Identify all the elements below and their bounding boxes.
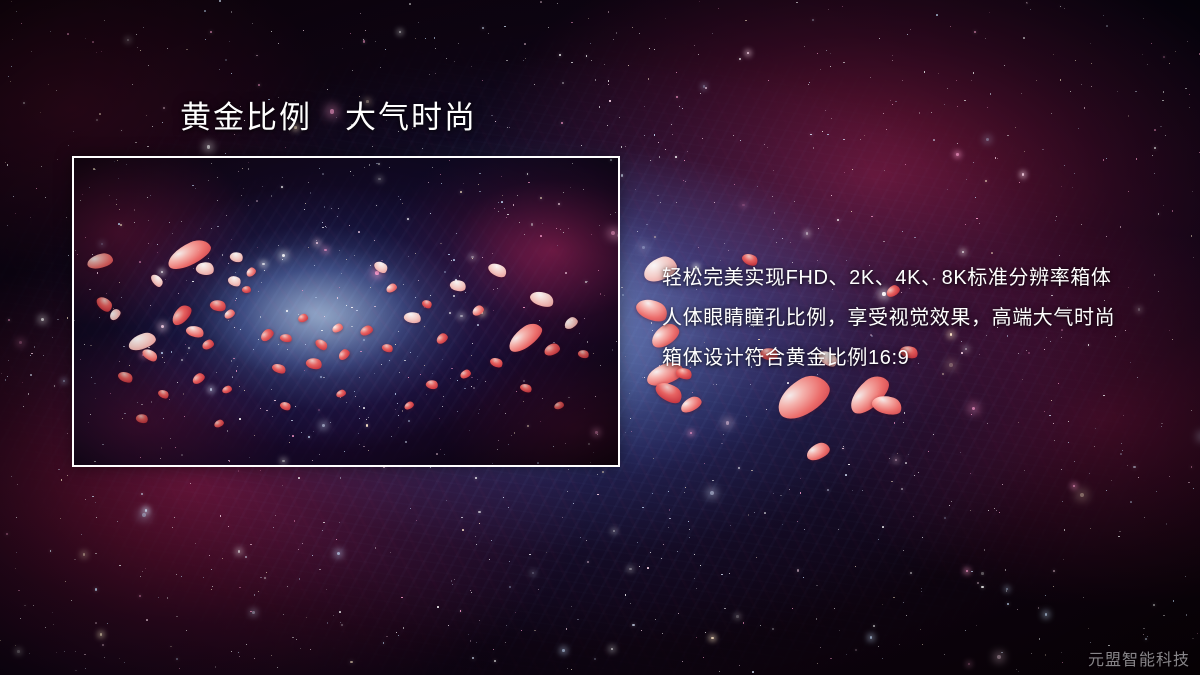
star — [239, 587, 241, 589]
star — [215, 666, 216, 667]
star — [1103, 159, 1105, 161]
star — [548, 27, 549, 28]
star — [581, 145, 582, 146]
star — [986, 138, 989, 141]
description-line-3: 箱体设计符合黄金比例16:9 — [662, 338, 1162, 378]
star — [702, 138, 703, 139]
star — [1053, 570, 1055, 572]
star — [683, 180, 684, 181]
star — [323, 522, 324, 523]
star — [231, 11, 233, 13]
star — [1094, 446, 1096, 448]
star — [1156, 491, 1157, 492]
star — [306, 617, 307, 618]
star — [207, 145, 211, 149]
star — [96, 517, 97, 518]
star — [95, 588, 97, 590]
star — [1053, 586, 1054, 587]
star — [220, 515, 222, 517]
star — [764, 144, 765, 145]
star — [921, 591, 922, 592]
star — [703, 85, 706, 88]
star — [30, 374, 31, 375]
star — [147, 146, 148, 147]
star — [843, 446, 844, 447]
star — [892, 55, 893, 56]
star — [813, 147, 814, 148]
star — [64, 651, 65, 652]
star — [162, 122, 163, 123]
star — [100, 633, 103, 636]
star — [766, 409, 768, 411]
star — [733, 135, 734, 136]
star — [908, 454, 909, 455]
star — [690, 432, 693, 435]
star — [319, 569, 321, 571]
star — [1193, 488, 1194, 489]
star — [754, 512, 755, 513]
star — [679, 106, 680, 107]
star — [31, 353, 33, 355]
star — [604, 64, 605, 65]
description-line-2: 人体眼睛瞳孔比例，享受视觉效果，高端大气时尚 — [662, 298, 1162, 338]
star — [380, 67, 381, 68]
star — [429, 74, 430, 75]
star — [375, 547, 376, 548]
star — [562, 649, 565, 652]
star — [817, 53, 818, 54]
star — [1083, 597, 1084, 598]
star — [884, 170, 885, 171]
star — [209, 555, 210, 556]
star — [1172, 210, 1174, 212]
star — [682, 108, 683, 109]
star — [506, 60, 508, 62]
star — [1189, 94, 1190, 95]
star — [979, 223, 980, 224]
star — [1053, 423, 1054, 424]
star — [95, 502, 96, 503]
star — [53, 624, 54, 625]
star — [586, 540, 587, 541]
star — [85, 38, 86, 39]
star — [728, 250, 729, 251]
star — [350, 661, 352, 663]
star — [1081, 224, 1082, 225]
star — [774, 212, 775, 213]
star — [23, 102, 25, 104]
star — [1051, 400, 1052, 401]
star — [721, 443, 722, 444]
star — [944, 104, 945, 105]
star — [608, 84, 609, 85]
star — [1163, 56, 1165, 58]
star — [7, 164, 8, 165]
star — [914, 237, 916, 239]
star — [588, 18, 589, 19]
star — [797, 521, 798, 522]
star — [66, 217, 67, 218]
star — [246, 644, 248, 646]
star — [651, 322, 653, 324]
star — [181, 576, 182, 577]
star — [142, 571, 143, 572]
star — [1060, 79, 1061, 80]
star — [403, 627, 404, 628]
star — [838, 529, 839, 530]
star — [190, 483, 191, 484]
star — [534, 630, 535, 631]
star — [794, 201, 795, 202]
star — [143, 27, 144, 28]
star — [798, 415, 800, 417]
star — [918, 472, 919, 473]
star — [15, 213, 16, 214]
star — [1026, 2, 1027, 3]
star — [899, 644, 900, 645]
star — [571, 62, 572, 63]
star — [15, 568, 16, 569]
star — [860, 139, 861, 140]
star — [298, 549, 299, 550]
star — [294, 520, 296, 522]
star — [719, 671, 720, 672]
star — [616, 32, 617, 33]
star — [660, 202, 662, 204]
star — [1084, 107, 1085, 108]
star — [747, 52, 749, 54]
star — [340, 622, 341, 623]
star — [96, 119, 98, 121]
star — [73, 131, 74, 132]
star — [1044, 411, 1045, 412]
star — [170, 646, 172, 648]
star — [595, 79, 596, 80]
star — [663, 544, 664, 545]
star — [471, 592, 472, 593]
star — [1106, 158, 1107, 159]
star — [509, 561, 510, 562]
star — [266, 572, 267, 573]
star — [21, 23, 22, 24]
star — [1169, 63, 1170, 64]
star — [363, 39, 364, 40]
star — [383, 642, 385, 644]
star — [671, 124, 672, 125]
star — [904, 412, 906, 414]
star — [685, 487, 686, 488]
star — [534, 84, 535, 85]
star — [1056, 216, 1057, 217]
star — [454, 61, 455, 62]
star — [641, 630, 642, 631]
star — [132, 84, 133, 85]
star — [657, 195, 658, 196]
star — [475, 477, 477, 479]
star — [843, 62, 845, 64]
star — [509, 586, 511, 588]
star — [951, 501, 952, 502]
star — [650, 552, 651, 553]
star — [705, 87, 706, 88]
star — [505, 642, 506, 643]
star — [67, 33, 69, 35]
star — [85, 668, 86, 669]
star — [104, 657, 105, 658]
star — [271, 655, 272, 656]
star — [258, 591, 259, 592]
star — [933, 434, 934, 435]
star — [714, 202, 715, 203]
star — [1138, 477, 1139, 478]
star — [470, 590, 471, 591]
star — [676, 72, 677, 73]
star — [119, 565, 121, 567]
star — [136, 34, 137, 35]
star — [1063, 559, 1064, 560]
star — [6, 533, 8, 535]
star — [653, 458, 654, 459]
star — [142, 513, 146, 517]
star — [1161, 423, 1162, 424]
star — [81, 534, 82, 535]
star — [222, 558, 223, 559]
star — [211, 569, 212, 570]
star — [844, 172, 845, 173]
star — [662, 633, 664, 635]
star — [1160, 126, 1161, 127]
star — [721, 574, 723, 576]
star — [1161, 426, 1162, 427]
star — [92, 496, 93, 497]
star — [971, 414, 972, 415]
star — [52, 612, 53, 613]
star — [628, 65, 629, 66]
star — [45, 627, 46, 628]
star — [40, 112, 42, 114]
star — [1191, 235, 1193, 237]
star — [613, 39, 614, 40]
star — [635, 189, 636, 190]
star — [738, 467, 740, 469]
star — [644, 377, 645, 378]
star — [275, 515, 276, 516]
star — [790, 242, 791, 243]
star — [322, 530, 323, 531]
star — [745, 20, 746, 21]
star — [878, 389, 879, 390]
star — [302, 543, 303, 544]
star — [825, 392, 826, 393]
star — [1186, 614, 1188, 616]
star — [1136, 158, 1137, 159]
star — [684, 492, 685, 493]
star — [902, 231, 903, 232]
star — [842, 448, 844, 450]
star — [936, 14, 938, 16]
star — [577, 619, 579, 621]
star — [818, 452, 821, 455]
star — [1022, 379, 1023, 380]
star — [1191, 466, 1193, 468]
star — [568, 469, 569, 470]
star — [830, 66, 831, 67]
star — [1128, 191, 1129, 192]
star — [831, 118, 832, 119]
star — [703, 657, 704, 658]
star — [1143, 634, 1144, 635]
star — [876, 393, 878, 395]
star — [834, 608, 835, 609]
star — [855, 566, 856, 567]
star — [140, 576, 142, 578]
star — [647, 567, 649, 569]
star — [278, 97, 279, 98]
star — [965, 630, 966, 631]
star — [694, 578, 695, 579]
star — [897, 453, 898, 454]
star — [50, 31, 51, 32]
star — [471, 66, 472, 67]
star — [250, 544, 251, 545]
star — [1007, 135, 1008, 136]
star — [1091, 86, 1092, 87]
star — [1123, 415, 1124, 416]
star — [1024, 151, 1025, 152]
star — [458, 43, 460, 45]
star — [689, 529, 690, 530]
star — [446, 500, 447, 501]
star — [1172, 339, 1173, 340]
star — [416, 520, 417, 521]
star — [864, 135, 865, 136]
star — [8, 360, 9, 361]
star — [523, 60, 524, 61]
star — [740, 140, 741, 141]
star — [507, 127, 508, 128]
star — [922, 644, 923, 645]
star — [54, 385, 56, 387]
star — [994, 508, 996, 510]
star — [1163, 615, 1165, 617]
star — [1023, 37, 1024, 38]
star — [1133, 466, 1135, 468]
star — [973, 72, 975, 74]
star — [8, 76, 9, 77]
star — [1163, 205, 1164, 206]
star — [1045, 595, 1047, 597]
star — [561, 122, 563, 124]
star — [739, 58, 741, 60]
star — [56, 652, 57, 653]
star — [63, 380, 66, 383]
star — [339, 522, 340, 523]
star — [839, 630, 840, 631]
star — [812, 19, 814, 21]
star — [773, 229, 774, 230]
star — [135, 142, 137, 144]
star — [914, 475, 915, 476]
star — [340, 477, 342, 479]
star — [1045, 613, 1048, 616]
star — [827, 489, 829, 491]
star — [203, 577, 204, 578]
star — [820, 647, 821, 648]
star — [336, 539, 337, 540]
star — [1130, 501, 1132, 503]
star — [700, 93, 701, 94]
star — [1024, 470, 1025, 471]
star — [665, 18, 666, 19]
star — [816, 618, 817, 619]
star — [179, 668, 180, 669]
star — [985, 180, 987, 182]
star — [625, 356, 626, 357]
star — [1036, 80, 1037, 81]
star — [895, 101, 896, 102]
star — [186, 49, 187, 50]
star — [1064, 529, 1065, 530]
star — [1165, 135, 1166, 136]
star — [61, 479, 62, 480]
star — [327, 622, 328, 623]
star — [903, 422, 904, 423]
description-block: 轻松完美实现FHD、2K、4K、8K标准分辨率箱体 人体眼睛瞳孔比例，享受视觉效… — [662, 258, 1162, 378]
star — [870, 636, 873, 639]
star — [1075, 60, 1076, 61]
star — [845, 474, 847, 476]
star — [905, 462, 907, 464]
star — [678, 613, 679, 614]
star — [101, 51, 102, 52]
star — [809, 82, 810, 83]
star — [342, 48, 343, 49]
star — [632, 624, 634, 626]
star — [390, 552, 391, 553]
star — [956, 80, 957, 81]
star — [910, 572, 912, 574]
star — [1120, 226, 1122, 228]
star — [282, 485, 283, 486]
star — [822, 131, 823, 132]
star — [712, 33, 713, 34]
star — [818, 228, 819, 229]
star — [621, 174, 623, 176]
star — [712, 480, 714, 482]
star — [68, 255, 69, 256]
star — [521, 630, 522, 631]
star — [401, 597, 402, 598]
star — [1118, 536, 1120, 538]
star — [16, 552, 17, 553]
star — [92, 41, 94, 43]
star — [1158, 213, 1160, 215]
star — [711, 637, 714, 640]
star — [837, 219, 839, 221]
star — [562, 82, 564, 84]
star — [278, 43, 279, 44]
star — [225, 59, 226, 60]
star — [36, 188, 37, 189]
star — [57, 319, 59, 321]
star — [117, 521, 118, 522]
star — [689, 537, 690, 538]
star — [41, 318, 44, 321]
star — [24, 605, 26, 607]
star — [1143, 628, 1144, 629]
star — [12, 39, 14, 41]
star — [506, 625, 507, 626]
